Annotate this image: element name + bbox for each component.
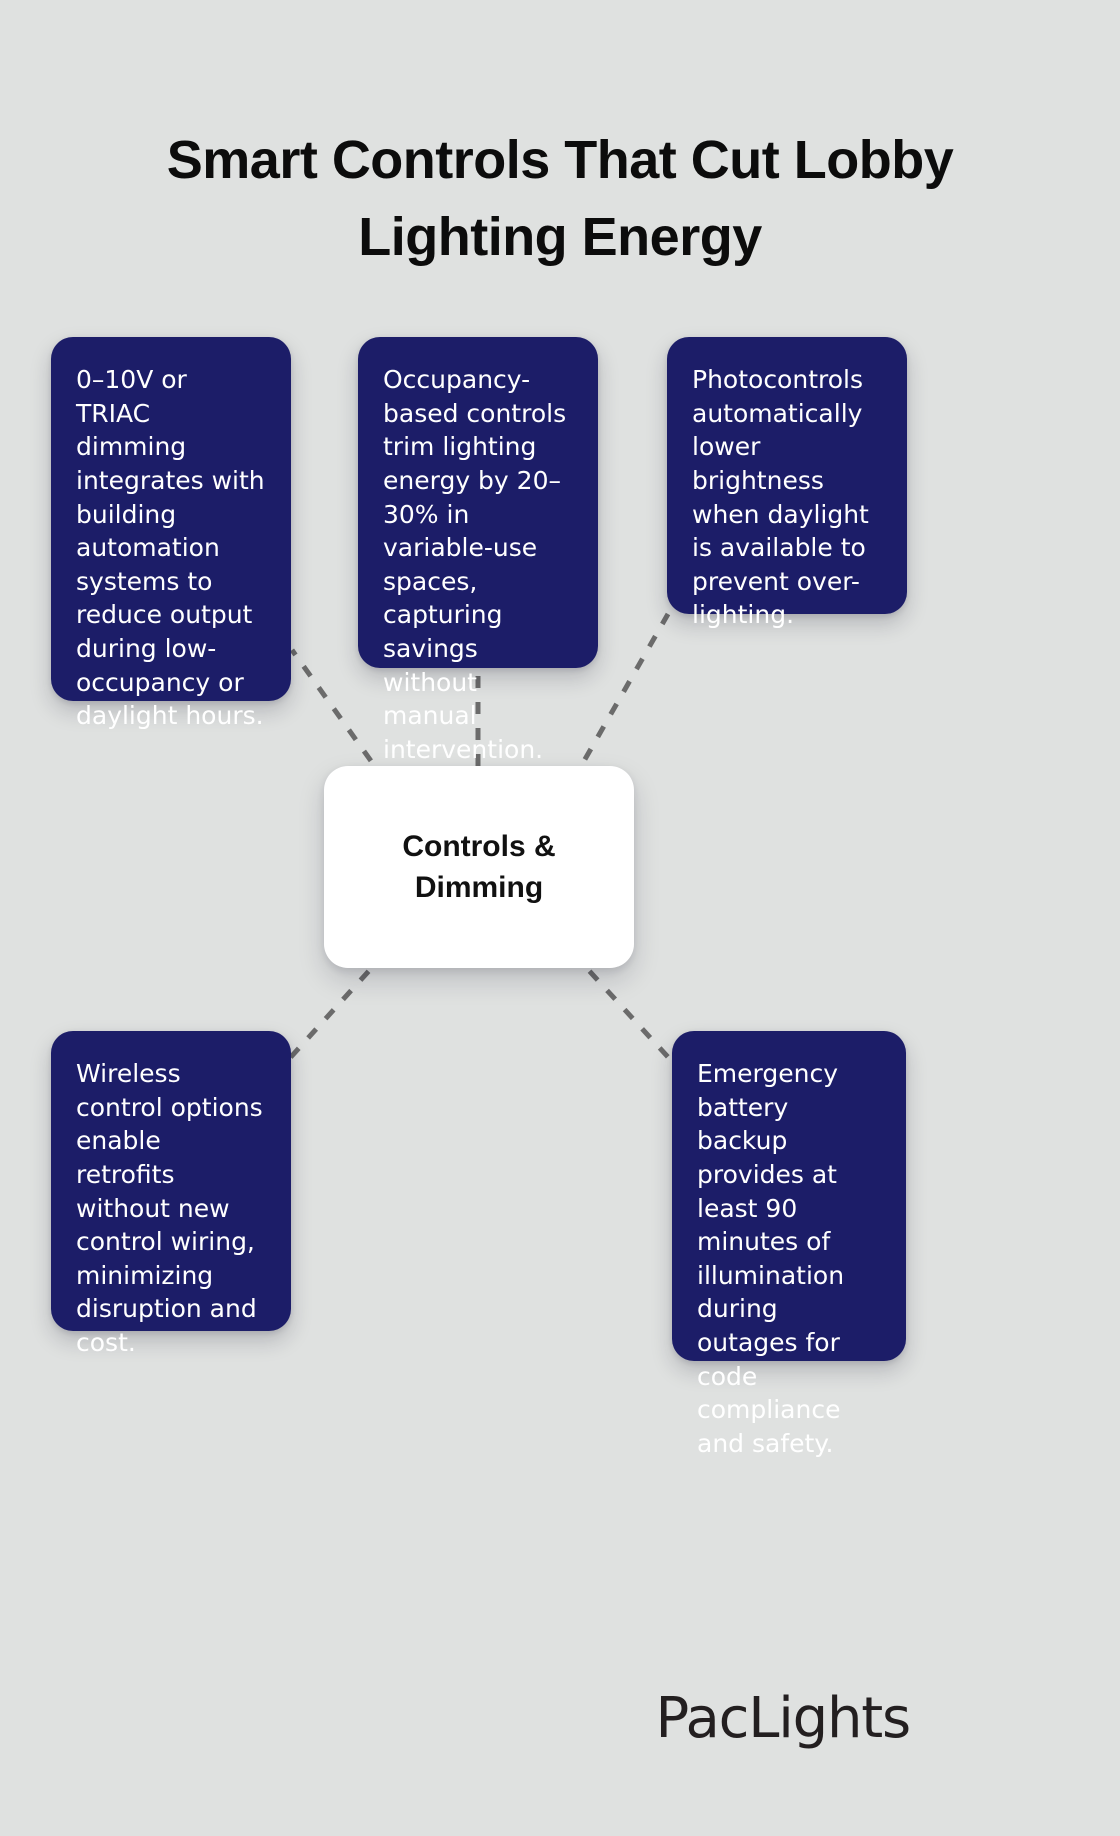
card-wireless-text: Wireless control options enable retrofit… bbox=[76, 1059, 263, 1357]
card-photocontrols-text: Photocontrols automatically lower bright… bbox=[692, 365, 869, 629]
connector-center-to-emergency bbox=[572, 952, 678, 1068]
card-occupancy-text: Occupancy-based controls trim lighting e… bbox=[383, 365, 566, 764]
card-emergency[interactable]: Emergency battery backup provides at lea… bbox=[672, 1031, 906, 1361]
center-hub-label: Controls & Dimming bbox=[402, 826, 555, 908]
brand-logo-text: PacLights bbox=[656, 1686, 911, 1751]
card-occupancy[interactable]: Occupancy-based controls trim lighting e… bbox=[358, 337, 598, 668]
card-photocontrols[interactable]: Photocontrols automatically lower bright… bbox=[667, 337, 907, 614]
card-dimming-text: 0–10V or TRIAC dimming integrates with b… bbox=[76, 365, 265, 730]
center-hub-node[interactable]: Controls & Dimming bbox=[324, 766, 634, 968]
brand-logo: PacLights bbox=[640, 1686, 910, 1752]
card-wireless[interactable]: Wireless control options enable retrofit… bbox=[51, 1031, 291, 1331]
infographic-canvas: Smart Controls That Cut Lobby Lighting E… bbox=[0, 0, 1120, 1836]
card-dimming[interactable]: 0–10V or TRIAC dimming integrates with b… bbox=[51, 337, 291, 701]
page-title: Smart Controls That Cut Lobby Lighting E… bbox=[60, 122, 1060, 275]
connector-center-to-dimming bbox=[292, 650, 386, 782]
card-emergency-text: Emergency battery backup provides at lea… bbox=[697, 1059, 844, 1458]
